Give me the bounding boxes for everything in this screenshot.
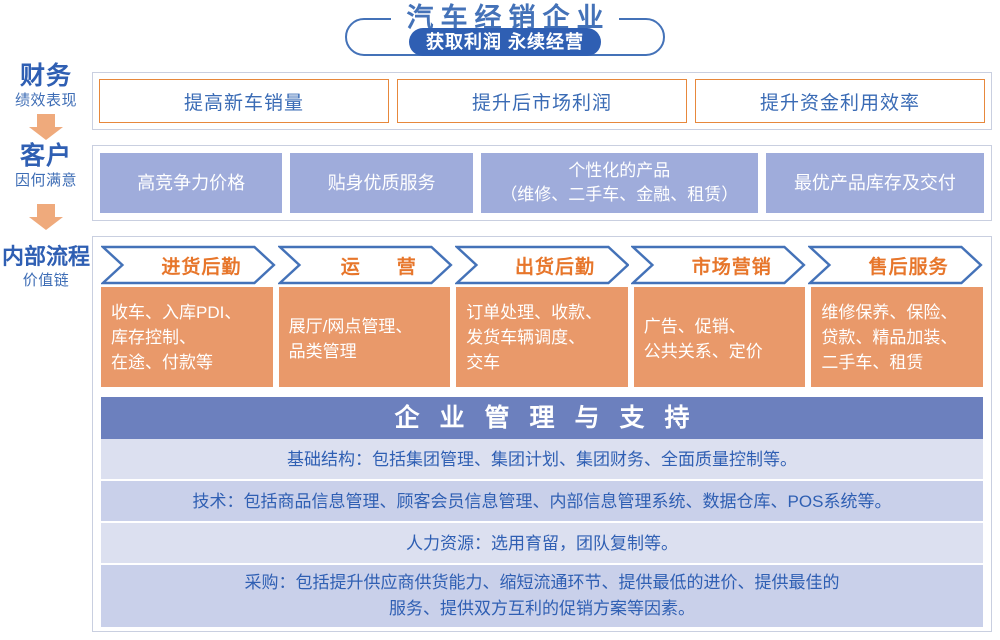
- management-row-procurement-line2: 服务、提供双方互利的促销方案等因素。: [245, 596, 840, 622]
- customer-objective-2-line1: 贴身优质服务: [328, 171, 436, 195]
- down-arrow-icon: [29, 204, 63, 230]
- stage-chevron-4[interactable]: 市场营销: [631, 245, 806, 285]
- stage-label-4: 市场营销: [631, 245, 806, 285]
- management-row-human-resources[interactable]: 人力资源：选用育留，团队复制等。: [101, 523, 983, 565]
- stage-detail-3-line3: 交车: [466, 350, 619, 375]
- management-row-technology[interactable]: 技术：包括商品信息管理、顾客会员信息管理、内部信息管理系统、数据仓库、POS系统…: [101, 481, 983, 523]
- stage-detail-3-line2: 发货车辆调度、: [466, 325, 619, 350]
- stage-detail-1-line3: 在途、付款等: [111, 350, 264, 375]
- stage-chevron-2[interactable]: 运 营: [278, 245, 453, 285]
- strategy-map-diagram: 汽车经销企业 获取利润 永续经营 财务 绩效表现 客户 因何满意 内部流程 价值…: [0, 0, 1000, 640]
- customer-objective-2[interactable]: 贴身优质服务: [290, 153, 472, 213]
- stage-detail-5[interactable]: 维修保养、保险、 贷款、精品加装、 二手车、租赁: [811, 287, 983, 387]
- customer-objective-3[interactable]: 个性化的产品 （维修、二手车、金融、租赁）: [481, 153, 758, 213]
- customer-objectives-row: 高竞争力价格 贴身优质服务 个性化的产品 （维修、二手车、金融、租赁） 最优产品…: [100, 153, 984, 213]
- perspective-label-column: 财务 绩效表现 客户 因何满意 内部流程 价值链: [0, 62, 92, 290]
- perspective-process-subtitle: 价值链: [0, 271, 92, 290]
- stage-detail-2-line1: 展厅/网点管理、: [289, 314, 442, 339]
- perspective-customer-subtitle: 因何满意: [0, 171, 92, 190]
- management-row-procurement[interactable]: 采购：包括提升供应商供货能力、缩短流通环节、提供最低的进价、提供最佳的 服务、提…: [101, 565, 983, 627]
- value-chain-stage-headers: 进货后勤 运 营 出货后勤 市场营销: [101, 245, 983, 285]
- stage-detail-1-line2: 库存控制、: [111, 325, 264, 350]
- stage-detail-3[interactable]: 订单处理、收款、 发货车辆调度、 交车: [456, 287, 628, 387]
- financial-objective-2[interactable]: 提升后市场利润: [397, 79, 687, 123]
- perspective-customer-title: 客户: [0, 142, 92, 171]
- customer-objective-4-line1: 最优产品库存及交付: [794, 171, 956, 195]
- stage-label-1: 进货后勤: [101, 245, 276, 285]
- customer-objective-4[interactable]: 最优产品库存及交付: [766, 153, 984, 213]
- stage-chevron-1[interactable]: 进货后勤: [101, 245, 276, 285]
- stage-label-5: 售后服务: [808, 245, 983, 285]
- stage-detail-5-line2: 贷款、精品加装、: [821, 325, 974, 350]
- down-arrow-icon: [29, 114, 63, 140]
- perspective-financial-subtitle: 绩效表现: [0, 91, 92, 110]
- perspective-financial-title: 财务: [0, 62, 92, 91]
- stage-detail-2[interactable]: 展厅/网点管理、 品类管理: [279, 287, 451, 387]
- stage-detail-1-line1: 收车、入库PDI、: [111, 300, 264, 325]
- management-row-infrastructure[interactable]: 基础结构：包括集团管理、集团计划、集团财务、全面质量控制等。: [101, 439, 983, 481]
- stage-detail-2-line2: 品类管理: [289, 339, 442, 364]
- stage-detail-4-line1: 广告、促销、: [644, 314, 797, 339]
- internal-process-panel: 进货后勤 运 营 出货后勤 市场营销: [92, 236, 992, 632]
- financial-objectives-row: 提高新车销量 提升后市场利润 提升资金利用效率: [99, 79, 985, 123]
- value-chain-stage-details: 收车、入库PDI、 库存控制、 在途、付款等 展厅/网点管理、 品类管理 订单处…: [101, 287, 983, 387]
- stage-detail-4-line2: 公共关系、定价: [644, 339, 797, 364]
- stage-detail-3-line1: 订单处理、收款、: [466, 300, 619, 325]
- customer-objective-3-line2: （维修、二手车、金融、租赁）: [500, 183, 738, 207]
- stage-chevron-3[interactable]: 出货后勤: [455, 245, 630, 285]
- financial-objective-1[interactable]: 提高新车销量: [99, 79, 389, 123]
- stage-detail-5-line1: 维修保养、保险、: [821, 300, 974, 325]
- management-row-procurement-line1: 采购：包括提升供应商供货能力、缩短流通环节、提供最低的进价、提供最佳的: [245, 570, 840, 596]
- perspective-label-financial: 财务 绩效表现: [0, 62, 92, 110]
- diagram-title: 汽车经销企业 获取利润 永续经营: [345, 2, 665, 58]
- stage-detail-4[interactable]: 广告、促销、 公共关系、定价: [634, 287, 806, 387]
- management-support-block: 企业管理与支持 基础结构：包括集团管理、集团计划、集团财务、全面质量控制等。 技…: [101, 397, 983, 627]
- customer-panel: 高竞争力价格 贴身优质服务 个性化的产品 （维修、二手车、金融、租赁） 最优产品…: [92, 145, 992, 221]
- perspective-label-internal-process: 内部流程 价值链: [0, 242, 92, 290]
- perspective-process-title: 内部流程: [0, 242, 92, 271]
- customer-objective-1[interactable]: 高竞争力价格: [100, 153, 282, 213]
- customer-objective-1-line1: 高竞争力价格: [137, 171, 245, 195]
- financial-panel: 提高新车销量 提升后市场利润 提升资金利用效率: [92, 72, 992, 130]
- stage-label-2: 运 营: [278, 245, 453, 285]
- subtitle-pill: 获取利润 永续经营: [409, 28, 601, 56]
- financial-objective-3[interactable]: 提升资金利用效率: [695, 79, 985, 123]
- customer-objective-3-line1: 个性化的产品: [500, 159, 738, 183]
- stage-detail-1[interactable]: 收车、入库PDI、 库存控制、 在途、付款等: [101, 287, 273, 387]
- management-support-title: 企业管理与支持: [101, 397, 983, 439]
- stage-detail-5-line3: 二手车、租赁: [821, 350, 974, 375]
- stage-chevron-5[interactable]: 售后服务: [808, 245, 983, 285]
- perspective-label-customer: 客户 因何满意: [0, 142, 92, 190]
- stage-label-3: 出货后勤: [455, 245, 630, 285]
